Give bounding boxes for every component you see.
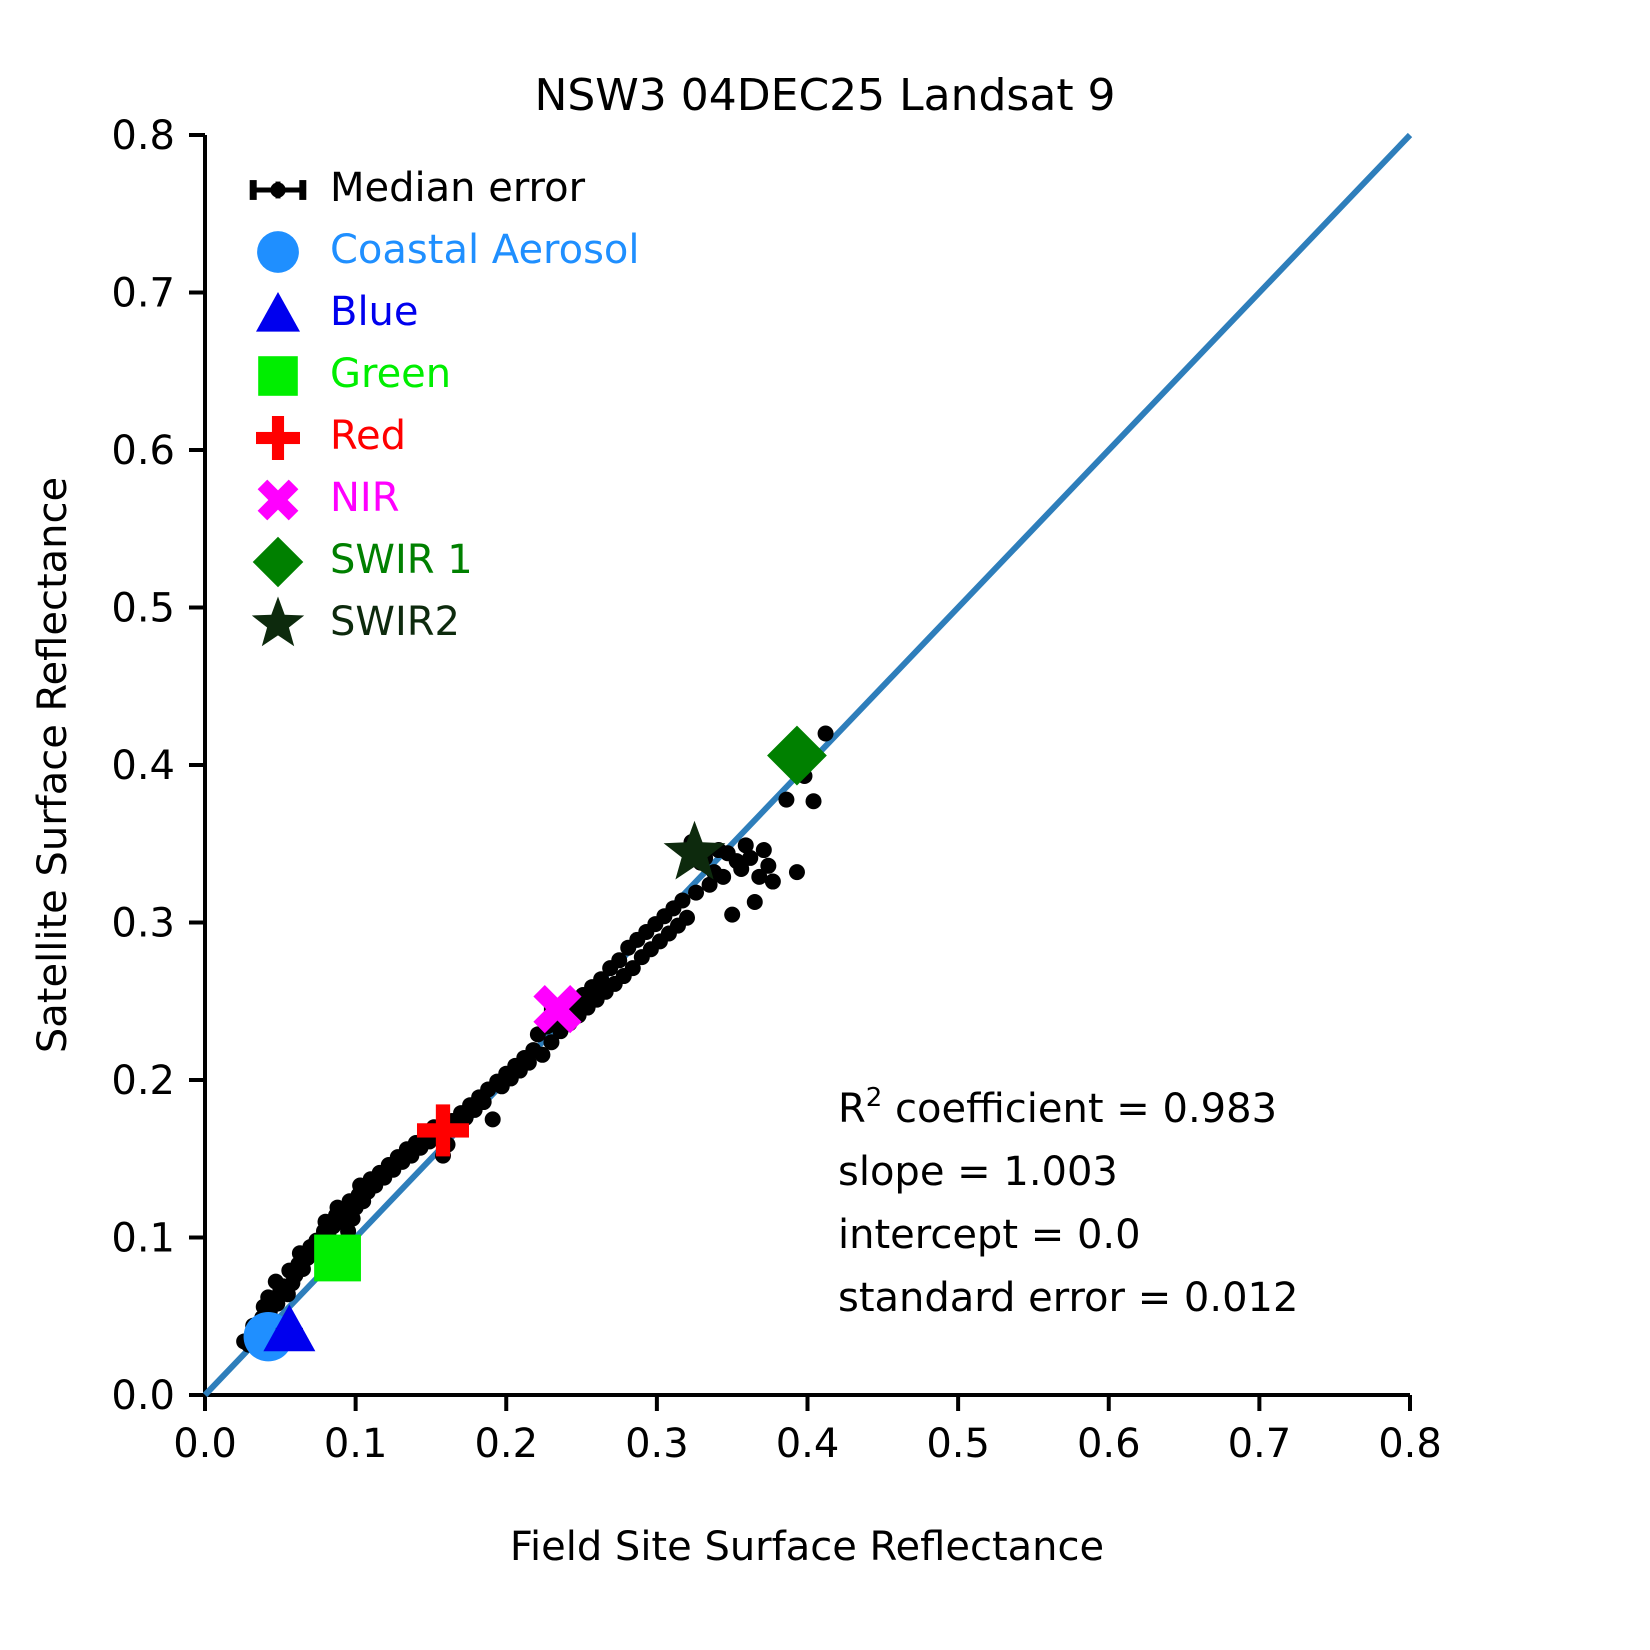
scatter-dot: [778, 792, 794, 808]
standard-error-line: standard error = 0.012: [838, 1275, 1298, 1321]
legend-item-median-error[interactable]: Median error: [253, 165, 585, 211]
legend-label: Red: [330, 413, 406, 459]
page-title: NSW3 04DEC25 Landsat 9: [534, 70, 1115, 121]
marker-plus-v: [436, 1104, 450, 1156]
legend-item-blue[interactable]: Blue: [256, 289, 419, 335]
legend-item-swir2[interactable]: SWIR2: [252, 597, 460, 647]
scatter-dot: [679, 910, 695, 926]
x-tick-label: 0.6: [1077, 1421, 1141, 1467]
x-tick-label: 0.7: [1228, 1421, 1292, 1467]
x-axis-label: Field Site Surface Reflectance: [510, 1524, 1104, 1570]
legend-label: Median error: [330, 165, 586, 211]
legend-item-green[interactable]: Green: [258, 351, 451, 397]
marker-square: [314, 1235, 361, 1282]
scatter-dot: [674, 892, 690, 908]
y-tick-label: 0.7: [111, 271, 175, 317]
scatter-dot: [747, 894, 763, 910]
x-tick-label: 0.0: [173, 1421, 237, 1467]
errorbar-center-dot: [270, 182, 285, 197]
legend-label: Green: [330, 351, 451, 397]
r-squared-prefix: R: [838, 1086, 866, 1132]
y-axis-ticks: 0.00.10.20.30.40.50.60.70.8: [111, 113, 205, 1419]
marker-square: [258, 356, 298, 396]
legend-item-coastal-aerosol[interactable]: Coastal Aerosol: [257, 227, 639, 273]
r-squared-rest: coefficient = 0.983: [882, 1086, 1277, 1132]
x-tick-label: 0.5: [926, 1421, 990, 1467]
legend-label: SWIR 1: [330, 537, 473, 583]
y-tick-label: 0.6: [111, 428, 175, 474]
scatter-dot: [724, 907, 740, 923]
legend-label: NIR: [330, 475, 400, 521]
marker-star: [252, 597, 304, 647]
scatter-dot: [806, 793, 822, 809]
y-tick-label: 0.5: [111, 586, 175, 632]
x-axis-ticks: 0.00.10.20.30.40.50.60.70.8: [173, 1395, 1442, 1467]
x-tick-label: 0.4: [776, 1421, 840, 1467]
legend-item-red[interactable]: Red: [256, 413, 406, 460]
legend-item-swir-1[interactable]: SWIR 1: [253, 537, 473, 588]
y-tick-label: 0.1: [111, 1216, 175, 1262]
scatter-dot: [715, 869, 731, 885]
x-tick-label: 0.8: [1378, 1421, 1442, 1467]
scatter-plot: NSW3 04DEC25 Landsat 9 0.00.10.20.30.40.…: [0, 0, 1650, 1650]
scatter-dot: [818, 726, 834, 742]
marker-plus-v: [272, 416, 284, 460]
legend-item-nir[interactable]: NIR: [258, 475, 400, 521]
marker-circle: [257, 231, 299, 273]
figure-canvas: NSW3 04DEC25 Landsat 9 0.00.10.20.30.40.…: [0, 0, 1650, 1650]
y-tick-label: 0.4: [111, 743, 175, 789]
y-tick-label: 0.0: [111, 1373, 175, 1419]
scatter-dot: [485, 1111, 501, 1127]
band-marker-green: [314, 1235, 361, 1282]
legend-label: SWIR2: [330, 599, 460, 645]
y-axis-label: Satellite Surface Reflectance: [30, 477, 76, 1053]
scatter-dot: [756, 842, 772, 858]
scatter-dot: [688, 885, 704, 901]
y-tick-label: 0.2: [111, 1058, 175, 1104]
legend-label: Coastal Aerosol: [330, 227, 640, 273]
legend-label: Blue: [330, 289, 419, 335]
statistics-annotation: R2 coefficient = 0.983 slope = 1.003 int…: [838, 1083, 1298, 1321]
scatter-dot: [789, 864, 805, 880]
y-tick-label: 0.8: [111, 113, 175, 159]
r-squared-superscript: 2: [866, 1083, 883, 1113]
y-tick-label: 0.3: [111, 901, 175, 947]
marker-diamond: [253, 537, 304, 588]
r-squared-line: R2 coefficient = 0.983: [838, 1083, 1277, 1132]
legend: Median errorCoastal AerosolBlueGreenRedN…: [252, 165, 640, 646]
marker-triangle: [256, 292, 300, 332]
intercept-line: intercept = 0.0: [838, 1212, 1141, 1258]
slope-line: slope = 1.003: [838, 1149, 1118, 1195]
scatter-dot: [742, 850, 758, 866]
x-tick-label: 0.2: [474, 1421, 538, 1467]
scatter-dot: [760, 858, 776, 874]
x-tick-label: 0.1: [324, 1421, 388, 1467]
x-tick-label: 0.3: [625, 1421, 689, 1467]
scatter-dot: [765, 874, 781, 890]
